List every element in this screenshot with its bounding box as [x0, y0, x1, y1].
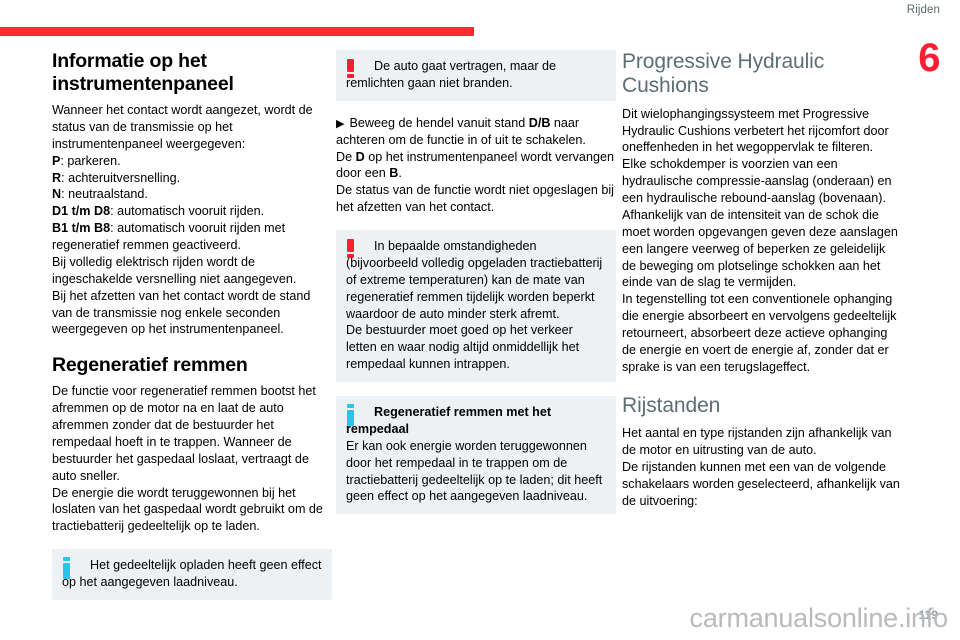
- paragraph-status-niet-opgeslagen: De status van de functie wordt niet opge…: [336, 182, 616, 216]
- info-icon: [347, 404, 354, 426]
- warning-callout-omstandigheden: In bepaalde omstandigheden (bijvoorbeeld…: [336, 230, 616, 382]
- gear-code: R: [52, 171, 61, 185]
- step-bold-db: D/B: [529, 116, 551, 130]
- gear-code: N: [52, 187, 61, 201]
- column-left: Informatie op het instrumentenpaneel Wan…: [52, 50, 332, 614]
- paragraph-rijstanden-b: De rijstanden kunnen met een van de volg…: [622, 459, 902, 510]
- para-a-bold-d: D: [356, 150, 365, 164]
- gear-item-b: B1 t/m B8: automatisch vooruit rijden me…: [52, 220, 332, 254]
- paragraph-phc-c: Afhankelijk van de intensiteit van de sc…: [622, 207, 902, 291]
- info-callout-title: Regeneratief remmen met het rempedaal: [346, 404, 606, 438]
- page-header: Rijden 6: [0, 0, 960, 46]
- page-footer: 119 carmanualsonline.info: [0, 594, 960, 640]
- para-a-3: .: [398, 166, 402, 180]
- info-icon: [63, 557, 70, 579]
- paragraph-regen-a: De functie voor regeneratief remmen boot…: [52, 383, 332, 484]
- heading-regeneratief-remmen: Regeneratief remmen: [52, 354, 332, 377]
- gear-desc: : parkeren.: [60, 154, 120, 168]
- gear-item-n: N: neutraalstand.: [52, 186, 332, 203]
- gear-item-r: R: achteruitversnelling.: [52, 170, 332, 187]
- info-callout-text: Het gedeeltelijk opladen heeft geen effe…: [62, 557, 322, 591]
- para-a-2: op het instrumentenpaneel wordt vervange…: [336, 150, 614, 181]
- section-label: Rijden: [907, 4, 940, 16]
- warning-callout-remlichten: De auto gaat vertragen, maar de remlicht…: [336, 50, 616, 101]
- warning-icon: [347, 59, 354, 78]
- gear-item-p: P: parkeren.: [52, 153, 332, 170]
- warning-callout-text: De auto gaat vertragen, maar de remlicht…: [346, 58, 606, 92]
- gear-code: D1 t/m D8: [52, 204, 110, 218]
- warning-icon: [347, 239, 354, 258]
- arrow-right-icon: ▶: [336, 118, 344, 130]
- gear-code: B1 t/m B8: [52, 221, 110, 235]
- warning-callout-text-2: De bestuurder moet goed op het verkeer l…: [346, 322, 606, 373]
- gear-desc: : automatisch vooruit rijden.: [110, 204, 264, 218]
- column-right: Progressive Hydraulic Cushions Dit wielo…: [622, 50, 902, 509]
- paragraph-phc-d: In tegenstelling tot een conventionele o…: [622, 291, 902, 375]
- paragraph-regen-b: De energie die wordt teruggewonnen bij h…: [52, 485, 332, 536]
- heading-rijstanden: Rijstanden: [622, 394, 902, 418]
- column-middle: De auto gaat vertragen, maar de remlicht…: [336, 50, 616, 528]
- gear-item-d: D1 t/m D8: automatisch vooruit rijden.: [52, 203, 332, 220]
- gear-desc: : neutraalstand.: [61, 187, 148, 201]
- heading-instrumentenpaneel: Informatie op het instrumentenpaneel: [52, 50, 332, 96]
- info-callout-laadniveau: Het gedeeltelijk opladen heeft geen effe…: [52, 549, 332, 600]
- header-red-rule: [0, 27, 474, 36]
- heading-progressive-hydraulic-cushions: Progressive Hydraulic Cushions: [622, 50, 902, 99]
- gear-desc: : achteruitversnelling.: [61, 171, 180, 185]
- info-callout-text: Er kan ook energie worden teruggewonnen …: [346, 438, 606, 506]
- info-callout-rempedaal: Regeneratief remmen met het rempedaal Er…: [336, 396, 616, 514]
- paragraph-phc-a: Dit wielophangingssysteem met Progressiv…: [622, 106, 902, 157]
- step-text-before: Beweeg de hendel vanuit stand: [349, 116, 528, 130]
- step-beweeg-hendel: ▶Beweeg de hendel vanuit stand D/B naar …: [336, 115, 616, 149]
- paragraph-d-wordt-b: De D op het instrumentenpaneel wordt ver…: [336, 149, 616, 183]
- site-watermark: carmanualsonline.info: [690, 603, 948, 634]
- paragraph-phc-b: Elke schokdemper is voorzien van een hyd…: [622, 156, 902, 207]
- para-a-1: De: [336, 150, 356, 164]
- content-columns: Informatie op het instrumentenpaneel Wan…: [0, 50, 960, 590]
- warning-callout-text-1: In bepaalde omstandigheden (bijvoorbeeld…: [346, 238, 606, 322]
- paragraph-rijstanden-a: Het aantal en type rijstanden zijn afhan…: [622, 425, 902, 459]
- paragraph-elektrisch: Bij volledig elektrisch rijden wordt de …: [52, 254, 332, 288]
- paragraph-afzetten: Bij het afzetten van het contact wordt d…: [52, 288, 332, 339]
- para-a-bold-b: B: [389, 166, 398, 180]
- paragraph-intro: Wanneer het contact wordt aangezet, word…: [52, 102, 332, 153]
